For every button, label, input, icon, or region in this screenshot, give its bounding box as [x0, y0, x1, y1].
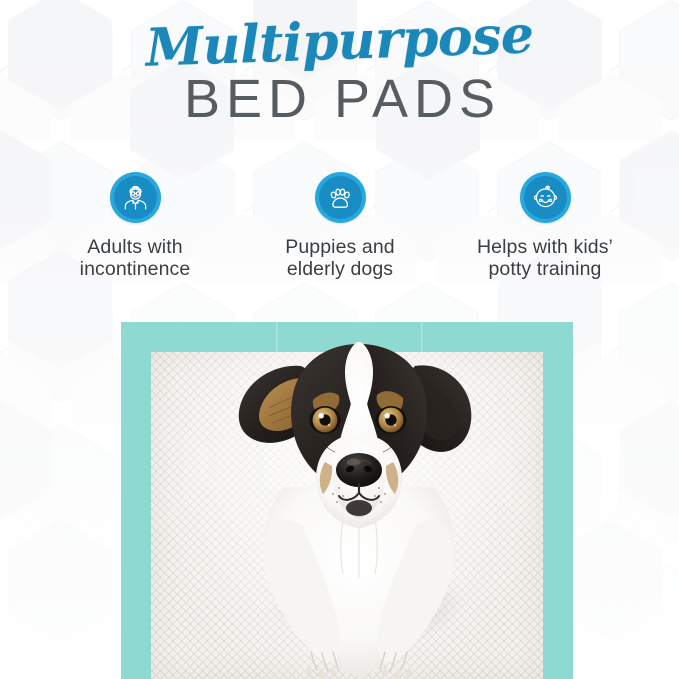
feature-label-kids: Helps with kids’ potty training	[477, 236, 613, 280]
elderly-person-icon-badge	[110, 172, 161, 223]
feature-label-dogs: Puppies and elderly dogs	[285, 236, 395, 280]
dog-shadow	[271, 560, 461, 646]
feature-label-adults: Adults with incontinence	[80, 236, 191, 280]
paw-print-icon-badge	[315, 172, 366, 223]
product-photo	[121, 322, 573, 679]
baby-face-icon-badge	[520, 172, 571, 223]
paw-print-icon	[326, 184, 354, 212]
feature-item-dogs: Puppies and elderly dogs	[245, 172, 435, 280]
product-infographic: Multipurpose BED PADS	[0, 0, 679, 679]
script-title: Multipurpose	[0, 4, 679, 80]
feature-item-adults: Adults with incontinence	[40, 172, 230, 280]
page-title: BED PADS	[0, 72, 679, 127]
feature-list: Adults with incontinence Puppies and eld…	[40, 172, 640, 280]
elderly-person-icon	[121, 183, 150, 212]
headline-block: Multipurpose BED PADS	[0, 16, 679, 127]
feature-item-kids: Helps with kids’ potty training	[450, 172, 640, 280]
baby-face-icon	[531, 183, 560, 212]
